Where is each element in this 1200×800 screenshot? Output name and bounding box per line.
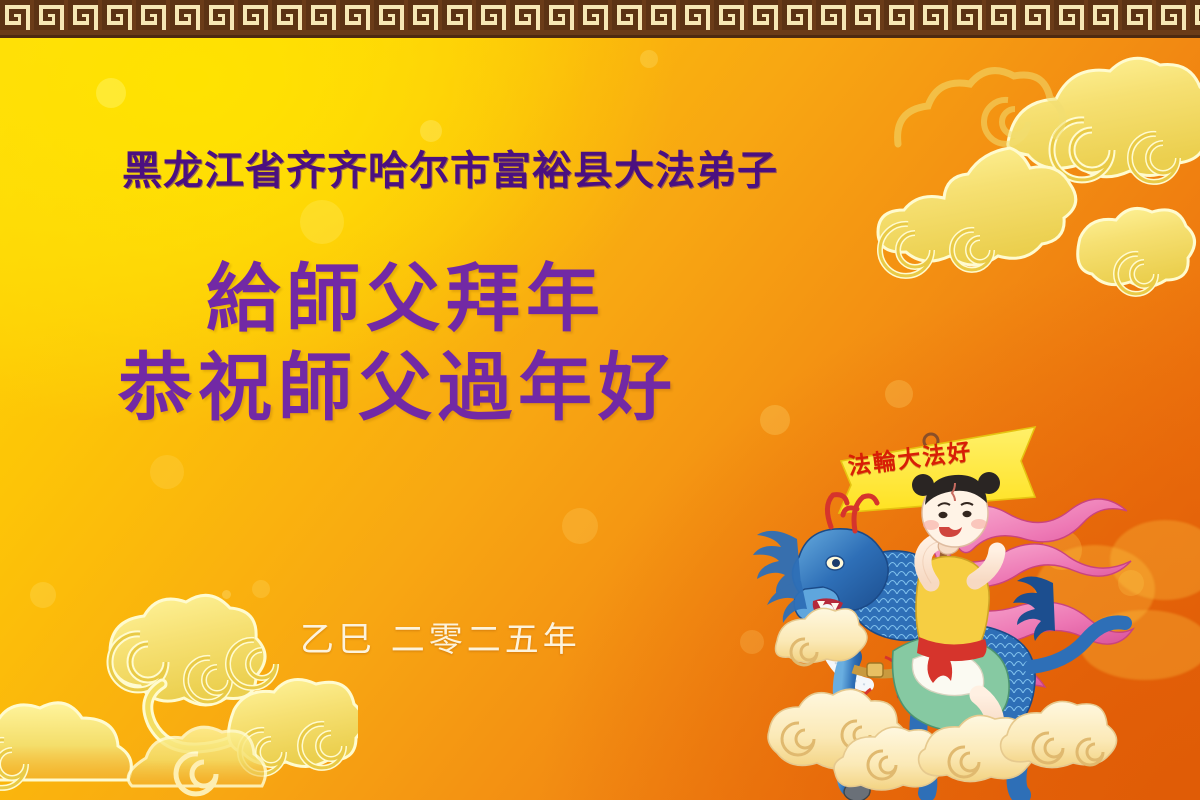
meander-unit — [986, 0, 1020, 35]
bokeh-speck — [640, 50, 658, 68]
bokeh-speck — [30, 582, 56, 608]
meander-unit — [884, 0, 918, 35]
cloud-top-right — [812, 48, 1200, 348]
greek-key-meander-border — [0, 0, 1200, 38]
page-title: 黑龙江省齐齐哈尔市富裕县大法弟子 — [122, 138, 778, 196]
bokeh-speck — [252, 580, 270, 598]
meander-unit — [476, 0, 510, 35]
greeting-line-2: 恭祝師父過年好 — [118, 351, 678, 426]
meander-unit — [782, 0, 816, 35]
meander-unit — [204, 0, 238, 35]
meander-unit — [680, 0, 714, 35]
meander-unit — [374, 0, 408, 35]
child-riding-dragon-illustration: 法輪大法好 — [735, 405, 1135, 800]
meander-unit — [68, 0, 102, 35]
meander-unit — [1190, 0, 1200, 35]
meander-unit — [646, 0, 680, 35]
meander-unit — [272, 0, 306, 35]
bokeh-speck — [222, 590, 231, 599]
meander-unit — [34, 0, 68, 35]
meander-unit — [442, 0, 476, 35]
meander-unit — [816, 0, 850, 35]
meander-unit — [1020, 0, 1054, 35]
bokeh-speck — [562, 508, 598, 544]
meander-unit — [1122, 0, 1156, 35]
meander-unit — [952, 0, 986, 35]
meander-unit — [578, 0, 612, 35]
greeting-card: 黑龙江省齐齐哈尔市富裕县大法弟子 給師父拜年 恭祝師父過年好 乙巳 二零二五年 — [0, 0, 1200, 800]
greeting-line-1: 給師父拜年 — [206, 262, 678, 337]
meander-unit — [510, 0, 544, 35]
meander-unit — [306, 0, 340, 35]
meander-unit — [850, 0, 884, 35]
meander-unit — [714, 0, 748, 35]
meander-unit — [748, 0, 782, 35]
meander-unit — [136, 0, 170, 35]
bokeh-speck — [885, 380, 913, 408]
cloud-upper-right-small — [880, 52, 1090, 192]
meander-unit — [408, 0, 442, 35]
bokeh-speck — [150, 455, 184, 489]
date-label: 乙巳 二零二五年 — [300, 612, 581, 661]
bokeh-speck — [300, 200, 344, 244]
meander-unit — [170, 0, 204, 35]
meander-unit — [238, 0, 272, 35]
cloud-left-small — [776, 608, 868, 665]
greeting-block: 給師父拜年 恭祝師父過年好 — [118, 262, 678, 427]
meander-unit — [544, 0, 578, 35]
meander-unit — [340, 0, 374, 35]
meander-unit — [1088, 0, 1122, 35]
meander-unit — [612, 0, 646, 35]
cloud-bottom-left-low — [0, 700, 290, 800]
bokeh-speck — [96, 78, 126, 108]
meander-unit — [102, 0, 136, 35]
meander-unit — [1054, 0, 1088, 35]
meander-unit — [1156, 0, 1190, 35]
meander-unit — [0, 0, 34, 35]
meander-unit — [918, 0, 952, 35]
